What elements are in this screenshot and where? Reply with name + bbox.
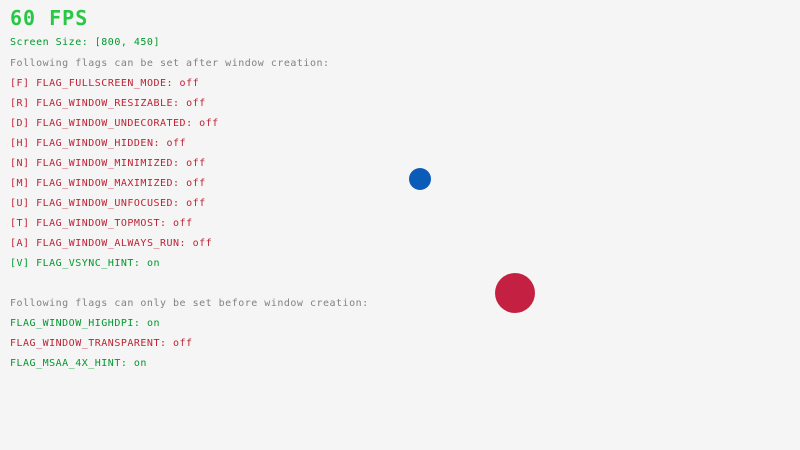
flag-shortcut-key: [V]: [10, 258, 36, 269]
flag-shortcut-key: [D]: [10, 118, 36, 129]
flag-state-value: off: [186, 98, 206, 109]
flag-name: FLAG_WINDOW_MINIMIZED:: [36, 158, 186, 169]
flag-name: FLAG_WINDOW_MAXIMIZED:: [36, 178, 186, 189]
flag-state-value: off: [186, 198, 206, 209]
flag-shortcut-key: [T]: [10, 218, 36, 229]
screen-size-label: Screen Size: [800, 450]: [10, 38, 160, 48]
flag-name: FLAG_VSYNC_HINT:: [36, 258, 147, 269]
flag-row[interactable]: [N] FLAG_WINDOW_MINIMIZED: off: [10, 159, 206, 169]
flag-shortcut-key: [H]: [10, 138, 36, 149]
red-ball: [495, 273, 535, 313]
flag-state-value: off: [186, 158, 206, 169]
flag-row[interactable]: FLAG_MSAA_4X_HINT: on: [10, 359, 147, 369]
flag-name: FLAG_WINDOW_UNDECORATED:: [36, 118, 199, 129]
flag-name: FLAG_MSAA_4X_HINT:: [10, 358, 134, 369]
flag-shortcut-key: [M]: [10, 178, 36, 189]
section-header-before-creation: Following flags can only be set before w…: [10, 299, 369, 309]
flag-state-value: off: [180, 78, 200, 89]
flag-state-value: off: [186, 178, 206, 189]
flag-name: FLAG_WINDOW_HIDDEN:: [36, 138, 166, 149]
flag-row[interactable]: [H] FLAG_WINDOW_HIDDEN: off: [10, 139, 186, 149]
flag-row[interactable]: [D] FLAG_WINDOW_UNDECORATED: off: [10, 119, 219, 129]
flag-row[interactable]: [R] FLAG_WINDOW_RESIZABLE: off: [10, 99, 206, 109]
flag-name: FLAG_WINDOW_TOPMOST:: [36, 218, 173, 229]
flag-shortcut-key: [U]: [10, 198, 36, 209]
flag-row[interactable]: FLAG_WINDOW_HIGHDPI: on: [10, 319, 160, 329]
flag-row[interactable]: [U] FLAG_WINDOW_UNFOCUSED: off: [10, 199, 206, 209]
flag-shortcut-key: [N]: [10, 158, 36, 169]
section-header-after-creation: Following flags can be set after window …: [10, 59, 330, 69]
flag-state-value: on: [147, 318, 160, 329]
flag-name: FLAG_WINDOW_TRANSPARENT:: [10, 338, 173, 349]
flag-state-value: off: [199, 118, 219, 129]
flag-name: FLAG_FULLSCREEN_MODE:: [36, 78, 179, 89]
flag-row[interactable]: FLAG_WINDOW_TRANSPARENT: off: [10, 339, 193, 349]
flag-name: FLAG_WINDOW_RESIZABLE:: [36, 98, 186, 109]
flag-state-value: off: [167, 138, 187, 149]
flag-row[interactable]: [A] FLAG_WINDOW_ALWAYS_RUN: off: [10, 239, 212, 249]
flag-row[interactable]: [V] FLAG_VSYNC_HINT: on: [10, 259, 160, 269]
blue-ball: [409, 168, 431, 190]
flag-state-value: on: [134, 358, 147, 369]
flag-shortcut-key: [F]: [10, 78, 36, 89]
flag-name: FLAG_WINDOW_UNFOCUSED:: [36, 198, 186, 209]
flag-state-value: off: [193, 238, 213, 249]
flag-shortcut-key: [R]: [10, 98, 36, 109]
flag-row[interactable]: [T] FLAG_WINDOW_TOPMOST: off: [10, 219, 193, 229]
flag-state-value: off: [173, 218, 193, 229]
fps-counter: 60 FPS: [10, 8, 88, 28]
flag-row[interactable]: [M] FLAG_WINDOW_MAXIMIZED: off: [10, 179, 206, 189]
flag-state-value: off: [173, 338, 193, 349]
flag-name: FLAG_WINDOW_HIGHDPI:: [10, 318, 147, 329]
raylib-canvas[interactable]: 60 FPS Screen Size: [800, 450] Following…: [0, 0, 800, 450]
flag-name: FLAG_WINDOW_ALWAYS_RUN:: [36, 238, 193, 249]
flag-state-value: on: [147, 258, 160, 269]
flag-row[interactable]: [F] FLAG_FULLSCREEN_MODE: off: [10, 79, 199, 89]
flag-shortcut-key: [A]: [10, 238, 36, 249]
